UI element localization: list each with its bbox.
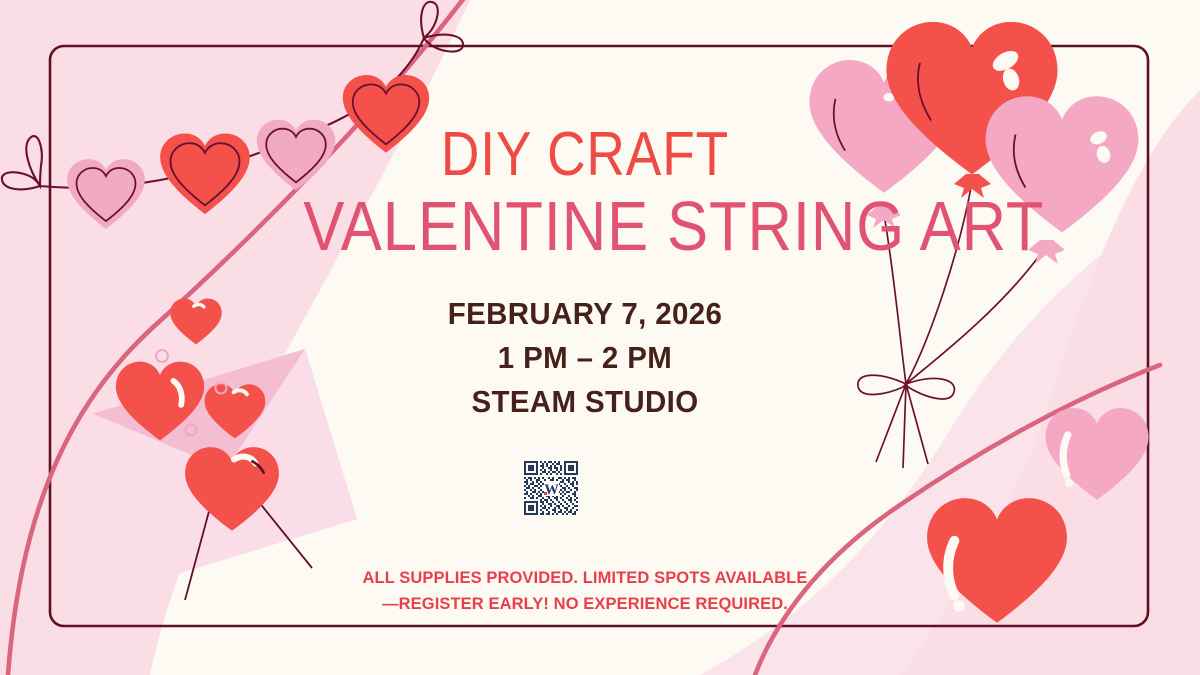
event-location: STEAM STUDIO	[281, 380, 889, 424]
event-details: FEBRUARY 7, 2026 1 PM – 2 PM STEAM STUDI…	[281, 292, 889, 424]
event-time: 1 PM – 2 PM	[281, 336, 889, 380]
event-date: FEBRUARY 7, 2026	[281, 292, 889, 336]
qr-code[interactable]: W	[522, 459, 580, 517]
footer-line-1: ALL SUPPLIES PROVIDED. LIMITED SPOTS AVA…	[250, 566, 920, 592]
text-block: DIY CRAFT VALENTINE STRING ART FEBRUARY …	[265, 126, 905, 424]
headline-line-1: DIY CRAFT	[310, 126, 860, 185]
qr-code-graphic[interactable]: W	[522, 459, 580, 517]
qr-accent-dot	[544, 492, 547, 495]
headline-line-2: VALENTINE STRING ART	[303, 191, 866, 262]
footer-note: ALL SUPPLIES PROVIDED. LIMITED SPOTS AVA…	[250, 566, 920, 617]
qr-logo-letter: W	[544, 482, 559, 498]
footer-line-2: —REGISTER EARLY! NO EXPERIENCE REQUIRED.	[250, 592, 920, 618]
poster-canvas: DIY CRAFT VALENTINE STRING ART FEBRUARY …	[0, 0, 1200, 675]
